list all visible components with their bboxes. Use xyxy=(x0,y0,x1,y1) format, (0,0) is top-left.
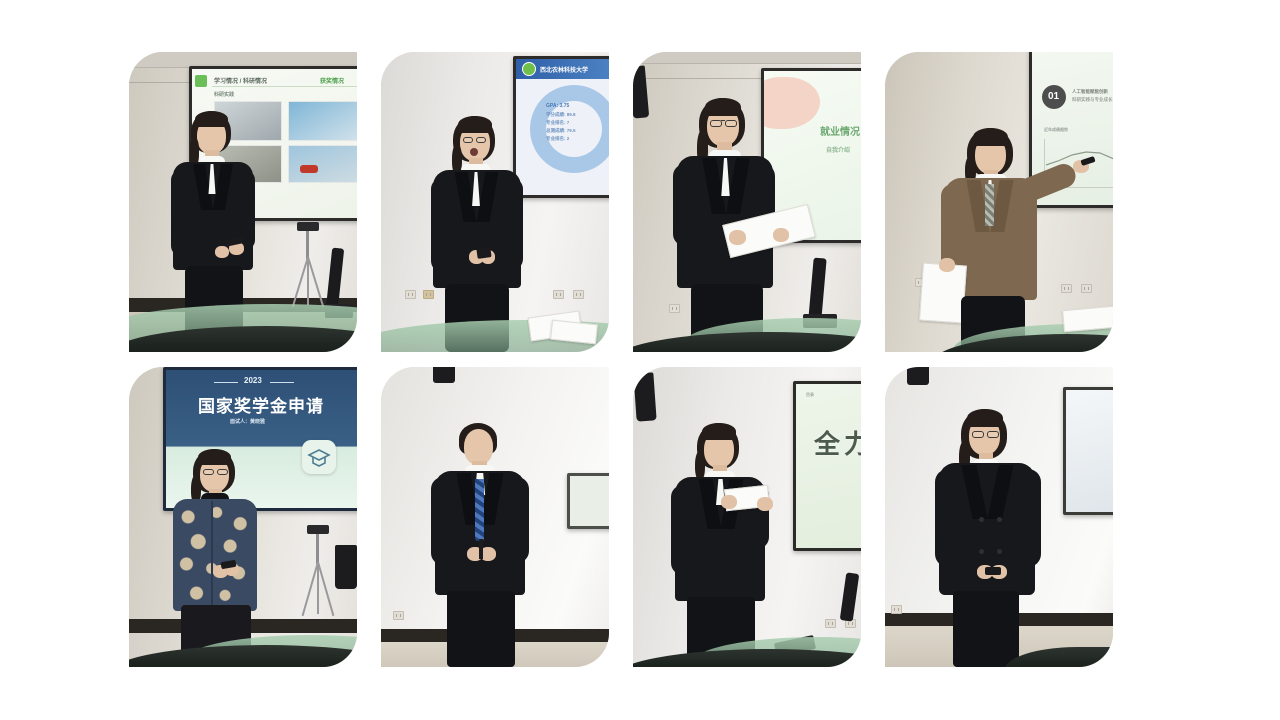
photo-8-scene xyxy=(885,367,1113,667)
photo-1-scene: 学习情况 / 科研情况 获奖情况 科研实践 xyxy=(129,52,357,352)
projected-slide-2: 西北农林科技大学 GPA: 3.75 学分成绩: 89.8 专业排名: 7 总测… xyxy=(516,59,609,195)
photo-tile-7[interactable]: 目录 全力 xyxy=(633,367,861,667)
blazer-button xyxy=(997,517,1002,522)
wall-socket xyxy=(891,605,902,614)
slide-1-body-label: 科研实践 xyxy=(214,91,234,98)
photo-5-scene: 2023 国家奖学金申请 面试人：黄晓雅 xyxy=(129,367,357,667)
photo-tile-8[interactable] xyxy=(885,367,1113,667)
bear-pattern-5 xyxy=(173,499,257,611)
photo-tile-1[interactable]: 学习情况 / 科研情况 获奖情况 科研实践 xyxy=(129,52,357,352)
striped-tie-6 xyxy=(475,479,484,541)
slide-4-badge: 01 xyxy=(1048,91,1059,102)
slide-3-subtitle: 自我介绍 xyxy=(826,145,850,154)
slide-7-header: 目录 xyxy=(806,392,814,398)
wall-socket xyxy=(553,290,564,299)
slide-4-heading: 人工智能赋能创新 xyxy=(1072,89,1108,95)
slide-5-year: 2023 xyxy=(244,376,262,385)
eyeglasses-left xyxy=(972,431,984,438)
photo-tile-4[interactable]: 01 人工智能赋能创新 科研实践与专业成长 近年成绩趋势 xyxy=(885,52,1113,352)
slide-5-title: 国家奖学金申请 xyxy=(198,392,324,417)
projection-screen-8 xyxy=(1063,387,1113,515)
badge-lanyard-6 xyxy=(479,539,483,559)
slide-3-title: 就业情况 xyxy=(820,123,860,138)
photo-7-scene: 目录 全力 xyxy=(633,367,861,667)
eyeglasses-right xyxy=(987,431,999,438)
eyeglasses-left xyxy=(710,120,722,127)
slide-7-title: 全力 xyxy=(814,424,861,461)
photo-tile-6[interactable] xyxy=(381,367,609,667)
wall-socket xyxy=(573,290,584,299)
photo-6-scene xyxy=(381,367,609,667)
ceiling-grid xyxy=(633,52,861,64)
slide-1-title: 学习情况 / 科研情况 xyxy=(214,76,267,85)
open-mouth xyxy=(470,148,478,156)
slide-1-accent: 获奖情况 xyxy=(320,76,344,85)
wall-socket xyxy=(405,290,416,299)
slide-4-chart-label: 近年成绩趋势 xyxy=(1044,127,1068,133)
wall-socket xyxy=(669,304,680,313)
wall-socket xyxy=(423,290,434,299)
projection-screen-2: 西北农林科技大学 GPA: 3.75 学分成绩: 89.8 专业排名: 7 总测… xyxy=(513,56,609,198)
plaid-tie-4 xyxy=(985,184,994,226)
photo-tile-3[interactable]: 就业情况 自我介绍 xyxy=(633,52,861,352)
wall-socket xyxy=(1061,284,1072,293)
papers-on-desk-4 xyxy=(1062,306,1113,332)
slide-2-header: 西北农林科技大学 xyxy=(540,65,588,74)
wall-speaker-7 xyxy=(633,372,656,421)
slide-4-body: 科研实践与专业成长 xyxy=(1072,97,1113,103)
wall-speaker-6 xyxy=(433,367,455,383)
slide-5-subtitle: 面试人：黄晓雅 xyxy=(230,418,265,425)
graduation-cap-icon xyxy=(302,440,336,474)
projection-screen-7: 目录 全力 xyxy=(793,381,861,551)
wall-socket xyxy=(825,619,836,628)
wall-socket xyxy=(393,611,404,620)
photo-2-scene: 西北农林科技大学 GPA: 3.75 学分成绩: 89.8 专业排名: 7 总测… xyxy=(381,52,609,352)
photo-3-scene: 就业情况 自我介绍 xyxy=(633,52,861,352)
projected-slide-7: 目录 全力 xyxy=(796,384,861,548)
presenter-clicker-8 xyxy=(985,567,1001,575)
eyeglasses-right xyxy=(725,120,737,127)
photo-tile-2[interactable]: 西北农林科技大学 GPA: 3.75 学分成绩: 89.8 专业排名: 7 总测… xyxy=(381,52,609,352)
blazer-button xyxy=(979,549,984,554)
presenter-clicker-2 xyxy=(476,247,491,259)
wall-speaker-8 xyxy=(907,367,929,385)
projection-screen-edge-6 xyxy=(567,473,609,529)
wall-speaker-5 xyxy=(335,545,357,589)
photo-tile-5[interactable]: 2023 国家奖学金申请 面试人：黄晓雅 xyxy=(129,367,357,667)
photo-grid: 学习情况 / 科研情况 获奖情况 科研实践 xyxy=(129,52,1114,667)
photo-4-scene: 01 人工智能赋能创新 科研实践与专业成长 近年成绩趋势 xyxy=(885,52,1113,352)
eyeglasses-right xyxy=(217,469,228,475)
wall-socket xyxy=(1081,284,1092,293)
eyeglasses-left xyxy=(203,469,214,475)
eyeglasses-left xyxy=(463,137,473,143)
blazer-button xyxy=(979,517,984,522)
blazer-button xyxy=(997,549,1002,554)
eyeglasses-right xyxy=(476,137,486,143)
